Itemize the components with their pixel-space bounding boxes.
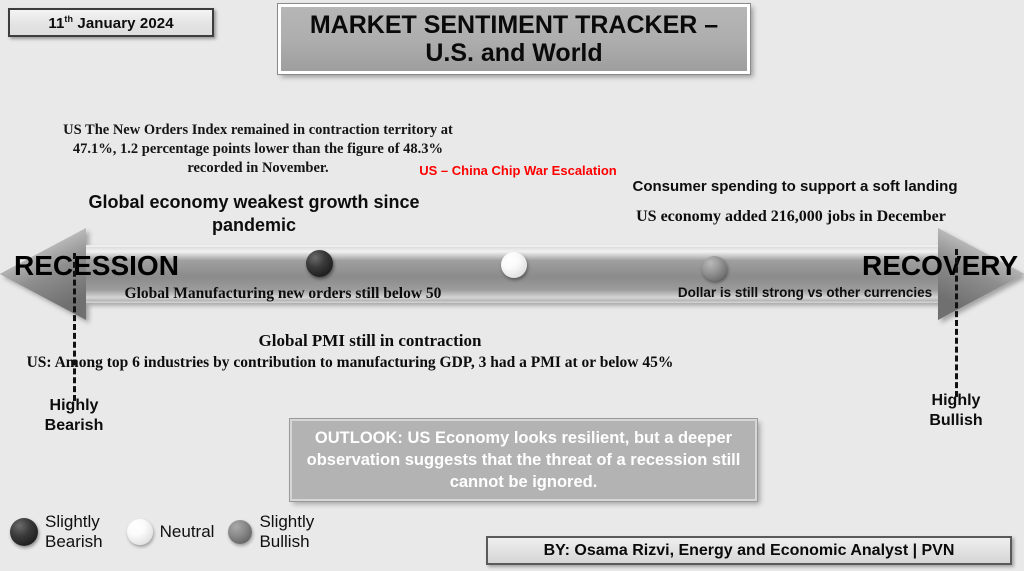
annotation-dollar-strength: Dollar is still strong vs other currenci…	[660, 285, 950, 302]
footer-credit-box: BY: Osama Rizvi, Energy and Economic Ana…	[486, 536, 1012, 565]
endpoint-label-highly-bearish: Highly Bearish	[14, 396, 134, 436]
gauge-marker-slightly-bearish	[306, 250, 333, 277]
gauge-right-end-label: RECOVERY	[862, 250, 1018, 282]
sphere-icon-neutral	[127, 519, 153, 545]
footer-credit-text: BY: Osama Rizvi, Energy and Economic Ana…	[544, 542, 955, 560]
legend: Slightly Bearish Neutral Slightly Bullis…	[4, 512, 314, 551]
annotation-top-industries: US: Among top 6 industries by contributi…	[20, 353, 680, 372]
annotation-new-orders-index: US The New Orders Index remained in cont…	[48, 121, 468, 178]
endpoint-connector-left	[73, 253, 76, 401]
date-text: 11th January 2024	[48, 14, 173, 32]
sentiment-tracker-slide: 11th January 2024 MARKET SENTIMENT TRACK…	[0, 0, 1024, 571]
legend-label-slightly-bearish: Slightly Bearish	[45, 512, 103, 551]
sphere-icon-slightly-bearish	[10, 518, 38, 546]
annotation-global-pmi: Global PMI still in contraction	[180, 330, 560, 351]
gauge-left-end-label: RECESSION	[14, 250, 179, 282]
date-ordinal-suffix: th	[64, 14, 73, 24]
gauge-marker-slightly-bullish	[702, 256, 727, 281]
legend-item-slightly-bullish: Slightly Bullish	[228, 512, 314, 551]
annotation-chip-war: US – China Chip War Escalation	[418, 163, 618, 179]
page-title: MARKET SENTIMENT TRACKER – U.S. and Worl…	[281, 11, 747, 67]
annotation-consumer-spending: Consumer spending to support a soft land…	[610, 178, 980, 197]
outlook-box: OUTLOOK: US Economy looks resilient, but…	[290, 419, 757, 501]
endpoint-label-highly-bullish: Highly Bullish	[896, 391, 1016, 431]
date-badge: 11th January 2024	[8, 8, 214, 37]
gauge-marker-neutral	[501, 252, 527, 278]
annotation-global-manufacturing: Global Manufacturing new orders still be…	[88, 284, 478, 303]
legend-item-slightly-bearish: Slightly Bearish	[10, 512, 103, 551]
slide-title-box: MARKET SENTIMENT TRACKER – U.S. and Worl…	[278, 4, 750, 74]
outlook-text: OUTLOOK: US Economy looks resilient, but…	[292, 427, 755, 494]
legend-label-neutral: Neutral	[160, 522, 215, 542]
sphere-icon-slightly-bullish	[228, 520, 252, 544]
endpoint-connector-right	[955, 249, 958, 397]
legend-item-neutral: Neutral	[127, 519, 215, 545]
legend-label-slightly-bullish: Slightly Bullish	[259, 512, 314, 551]
